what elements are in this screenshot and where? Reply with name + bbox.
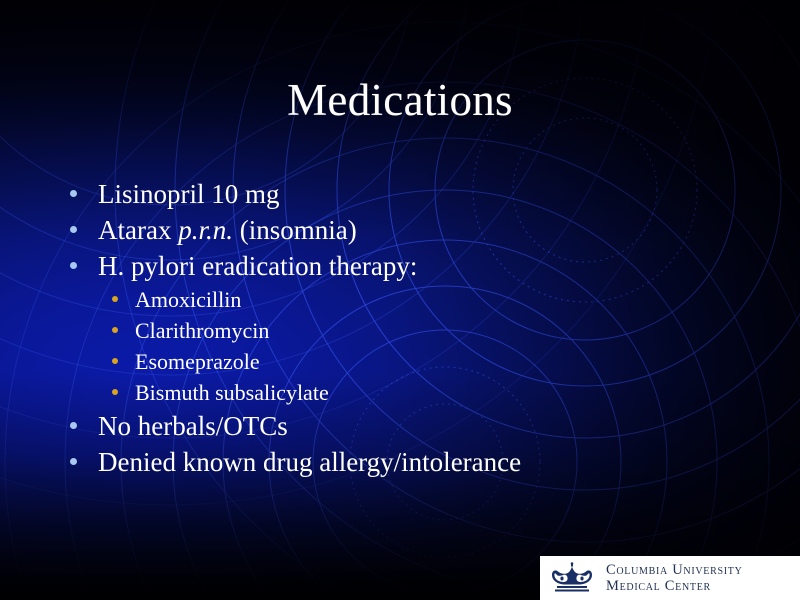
list-item: H. pylori eradication therapy: xyxy=(62,248,770,284)
list-item-label-part: (insomnia) xyxy=(233,215,357,245)
list-item-label: Atarax p.r.n. (insomnia) xyxy=(98,212,357,248)
sub-list-item: Clarithromycin xyxy=(62,315,770,346)
sub-bullet-dot-icon xyxy=(112,327,118,333)
sub-bullet-dot-icon xyxy=(112,389,118,395)
bullet-dot-icon xyxy=(70,226,77,233)
sub-list-item-label: Amoxicillin xyxy=(135,284,241,315)
sub-list-item-label: Esomeprazole xyxy=(135,346,260,377)
columbia-crown-icon xyxy=(550,562,594,594)
slide-content: Medications Lisinopril 10 mg Atarax p.r.… xyxy=(0,0,800,600)
sub-bullet-dot-icon xyxy=(112,296,118,302)
list-item-label-part: Atarax xyxy=(98,215,178,245)
sub-bullet-dot-icon xyxy=(112,358,118,364)
sub-list-item: Amoxicillin xyxy=(62,284,770,315)
bullet-dot-icon xyxy=(70,262,77,269)
bullet-dot-icon xyxy=(70,422,77,429)
list-item-label: Denied known drug allergy/intolerance xyxy=(98,444,521,480)
list-item: Atarax p.r.n. (insomnia) xyxy=(62,212,770,248)
list-item: No herbals/OTCs xyxy=(62,408,770,444)
logo-line-medical-center: Medical Center xyxy=(606,578,796,594)
list-item-label: H. pylori eradication therapy: xyxy=(98,248,417,284)
sub-list-item: Esomeprazole xyxy=(62,346,770,377)
institution-logo: Columbia University Medical Center xyxy=(540,556,800,600)
list-item-label-part-italic: p.r.n. xyxy=(178,215,233,245)
sub-list-item-label: Bismuth subsalicylate xyxy=(135,377,329,408)
slide-bullet-list: Lisinopril 10 mg Atarax p.r.n. (insomnia… xyxy=(62,176,770,480)
institution-logo-text: Columbia University Medical Center xyxy=(606,562,800,594)
slide-title: Medications xyxy=(0,78,800,123)
presentation-slide: Medications Lisinopril 10 mg Atarax p.r.… xyxy=(0,0,800,600)
sub-list-item-label: Clarithromycin xyxy=(135,315,269,346)
list-item: Lisinopril 10 mg xyxy=(62,176,770,212)
bullet-dot-icon xyxy=(70,458,77,465)
list-item: Denied known drug allergy/intolerance xyxy=(62,444,770,480)
sub-list-item: Bismuth subsalicylate xyxy=(62,377,770,408)
bullet-dot-icon xyxy=(70,190,77,197)
logo-line-university: Columbia University xyxy=(606,562,796,578)
list-item-label: No herbals/OTCs xyxy=(98,408,288,444)
list-item-label: Lisinopril 10 mg xyxy=(98,176,280,212)
